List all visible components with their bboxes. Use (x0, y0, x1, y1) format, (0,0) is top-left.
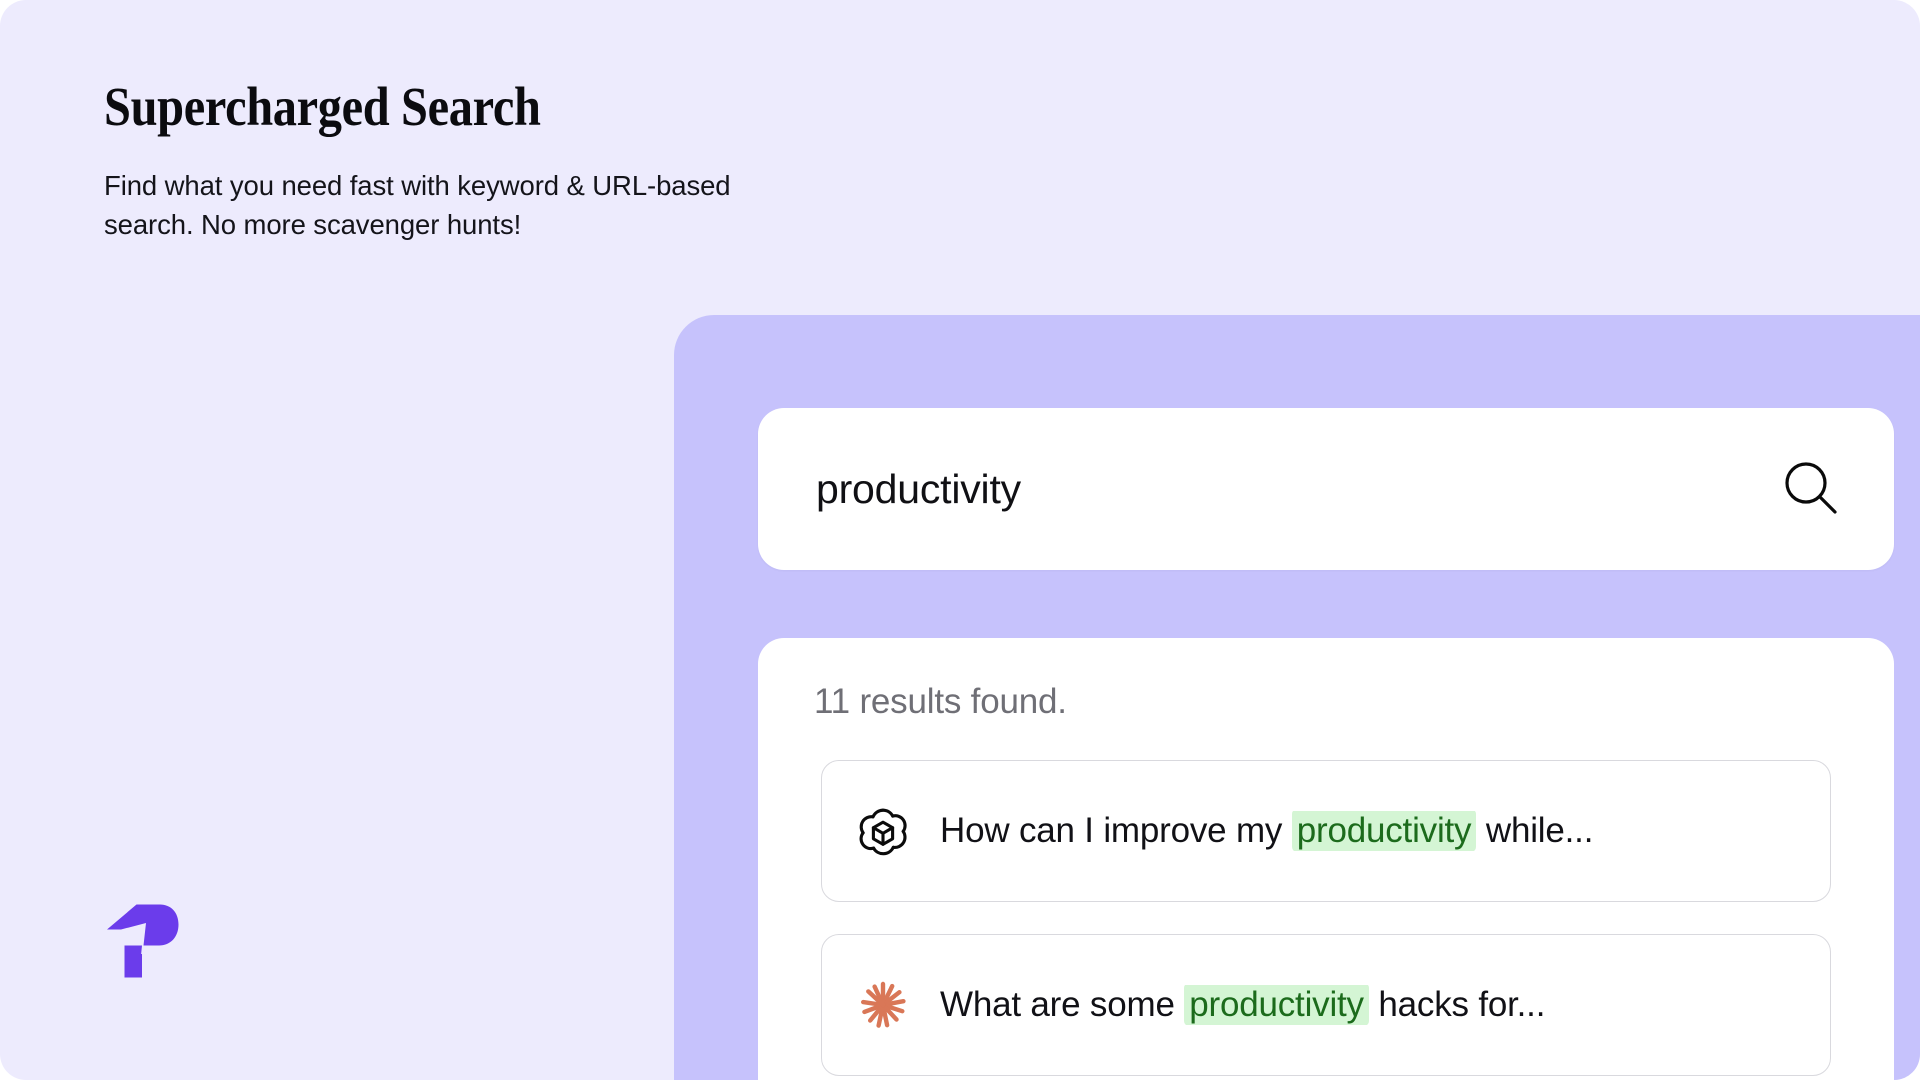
openai-logo-icon (856, 804, 910, 858)
search-icon[interactable] (1780, 458, 1842, 520)
brand-p-logo-icon (102, 902, 186, 980)
results-count-label: 11 results found. (814, 682, 1838, 722)
result-highlight: productivity (1292, 811, 1477, 851)
list-item[interactable]: What are some productivity hacks for... (821, 934, 1831, 1076)
result-prefix: What are some (940, 985, 1184, 1024)
list-item[interactable]: How can I improve my productivity while.… (821, 760, 1831, 902)
result-highlight: productivity (1184, 985, 1369, 1025)
result-suffix: hacks for... (1369, 985, 1545, 1024)
hero-section: Supercharged Search Find what you need f… (104, 78, 904, 244)
page-subtitle: Find what you need fast with keyword & U… (104, 166, 744, 244)
page-title: Supercharged Search (104, 78, 808, 136)
app-screen: Supercharged Search Find what you need f… (0, 0, 1920, 1080)
search-panel: productivity 11 results found. (674, 315, 1920, 1080)
results-panel: 11 results found. (758, 638, 1894, 1080)
result-suffix: while... (1476, 811, 1593, 850)
search-input[interactable]: productivity (816, 466, 1780, 513)
result-prefix: How can I improve my (940, 811, 1292, 850)
result-title: What are some productivity hacks for... (940, 985, 1545, 1025)
search-bar[interactable]: productivity (758, 408, 1894, 570)
claude-burst-icon (856, 978, 910, 1032)
result-title: How can I improve my productivity while.… (940, 811, 1593, 851)
